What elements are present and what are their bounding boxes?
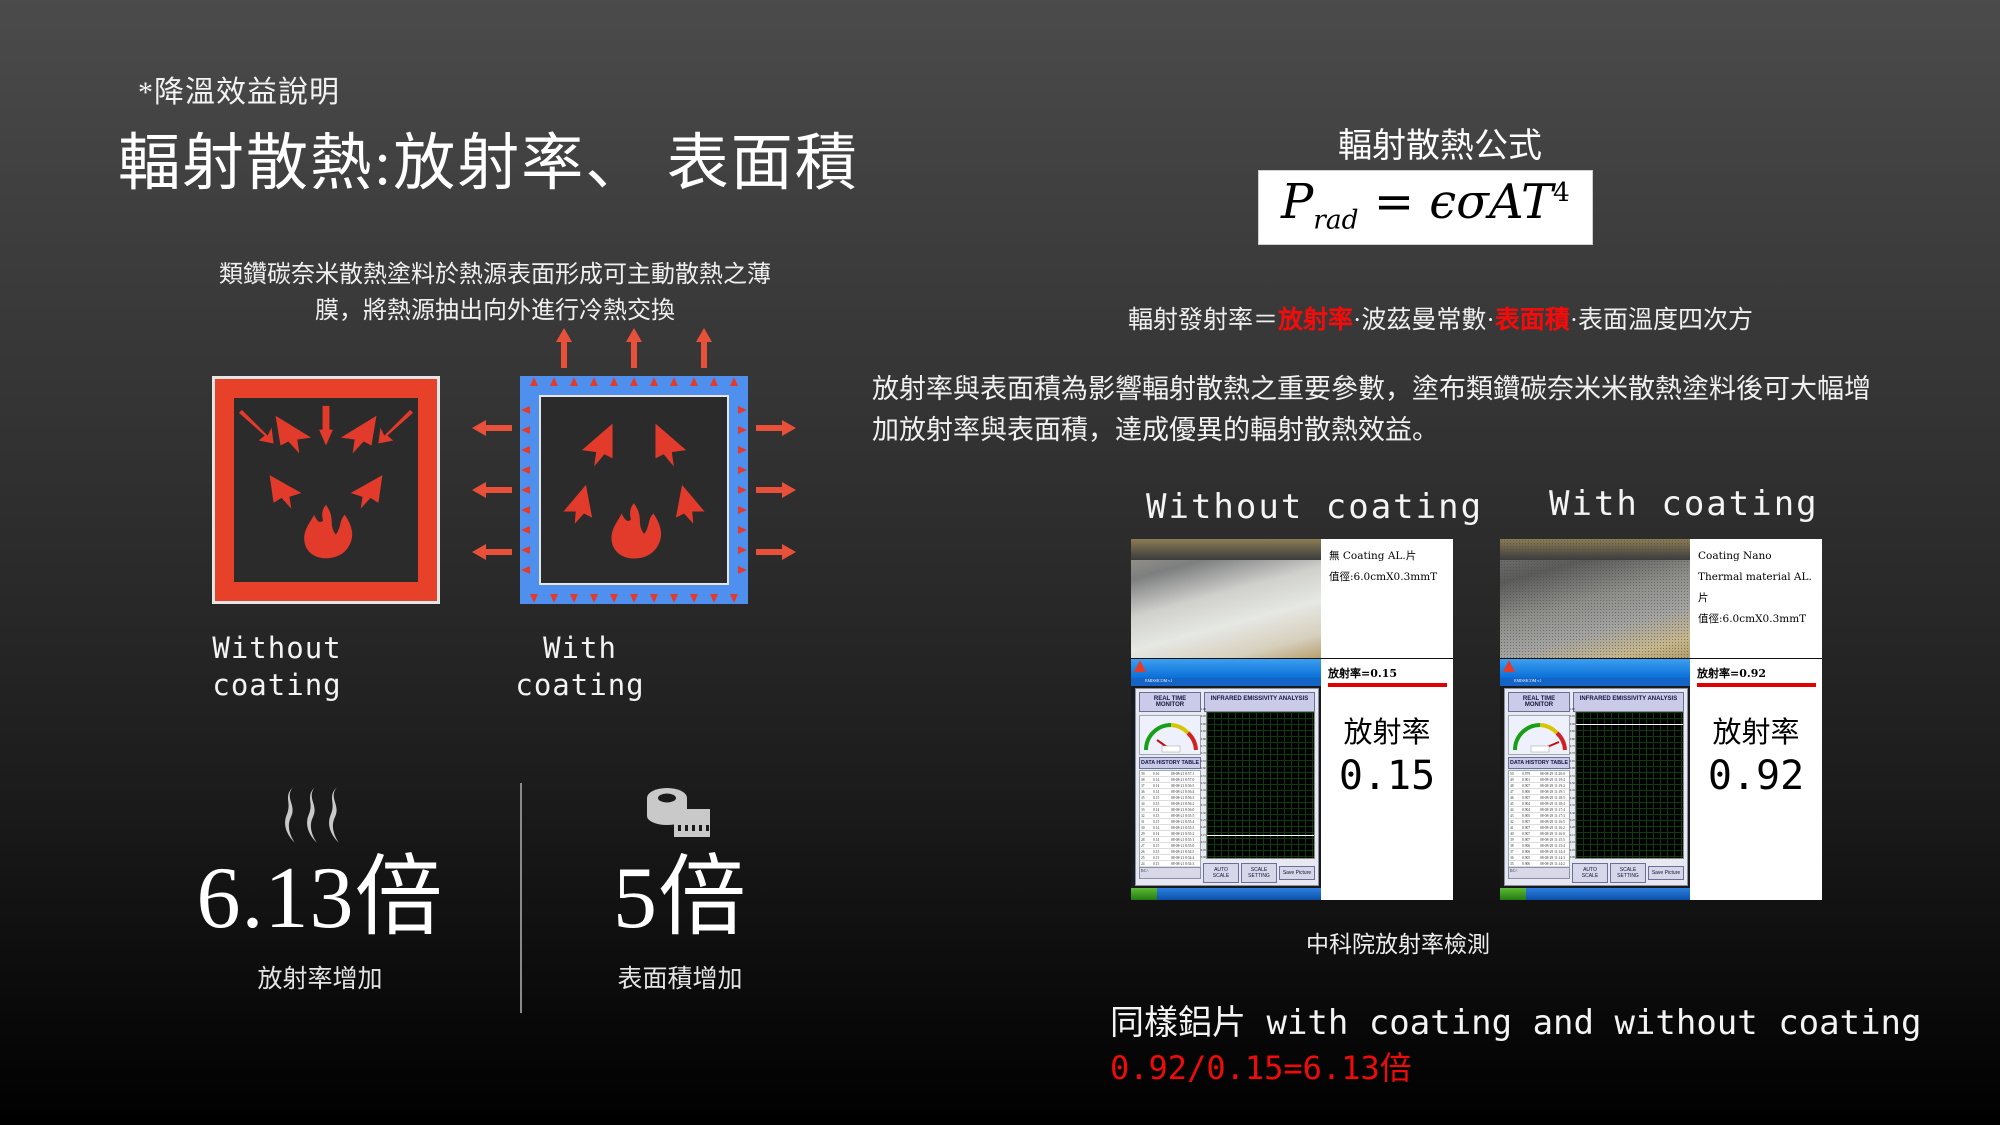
inward-arrows-group <box>234 398 418 582</box>
data-history-table-with[interactable]: 500.97908-08-29 11:20:0490.90108-08-29 1… <box>1508 770 1570 878</box>
readout-underline <box>1328 683 1447 687</box>
table-cell: 08-08-21 8:56:2 <box>1170 802 1200 806</box>
table-cell: 0.14 <box>1152 832 1170 836</box>
stat-emissivity: 6.13倍 放射率增加 <box>150 775 490 995</box>
table-cell: 08-08-21 8:55:3 <box>1170 826 1200 830</box>
readout-title: 放射率 <box>1321 709 1453 751</box>
table-cell: 46 <box>1509 796 1521 800</box>
table-cell: 38 <box>1140 778 1152 782</box>
auto-scale-button[interactable]: AUTO SCALE <box>1572 863 1608 883</box>
photo-background-bar <box>1500 539 1690 560</box>
table-cell: 0.901 <box>1521 778 1539 782</box>
table-cell: 47 <box>1509 790 1521 794</box>
readout-value: 0.92 <box>1690 753 1822 799</box>
table-cell: 0.907 <box>1521 820 1539 824</box>
stat-value: 5倍 <box>510 853 850 945</box>
app-bottom-bar: $\C:\ AUTO SCALE SCALE SETTING Save Pict… <box>1139 863 1315 883</box>
table-cell: 08-08-29 11:20:0 <box>1539 772 1569 776</box>
start-button[interactable] <box>1131 888 1157 900</box>
table-cell: 0.907 <box>1521 838 1539 842</box>
table-cell: 08-08-29 11:16:5 <box>1539 820 1569 824</box>
chart-y-axis: 0.000.050.100.150.200.250.300.350.400.45… <box>1198 711 1206 859</box>
table-cell: 43 <box>1509 814 1521 818</box>
table-cell: 08-08-21 8:55:0 <box>1170 844 1200 848</box>
app-bottom-bar: $\C:\ AUTO SCALE SCALE SETTING Save Pict… <box>1508 863 1684 883</box>
scale-setting-button[interactable]: SCALE SETTING <box>1610 863 1646 883</box>
table-cell: 0.907 <box>1521 796 1539 800</box>
app-logo-icon <box>1503 660 1515 672</box>
caption-with-line1: With <box>543 631 617 665</box>
stat-label: 放射率增加 <box>150 959 490 995</box>
desc-term-surface-area: 表面積 <box>1495 307 1570 334</box>
table-cell: 0.15 <box>1152 856 1170 860</box>
readout-without-coating: 放射率=0.15 放射率 0.15 <box>1321 659 1453 900</box>
formula-expression: Prad = ϵσAT4 <box>1281 177 1570 234</box>
table-cell: 08-08-29 11:14:3 <box>1539 856 1569 860</box>
diagram-caption-with: With coating <box>455 630 705 704</box>
evidence-label-without: Without coating <box>1146 487 1483 527</box>
table-cell: 0.979 <box>1521 772 1539 776</box>
evidence-top-with: Coating Nano Thermal material AL. 片 值徑:6… <box>1500 539 1822 659</box>
measuring-tape-icon <box>510 775 850 847</box>
panel-real-time-monitor: REAL TIME MONITOR <box>1139 692 1201 712</box>
emissivity-app-with: EMISSICOM v1 REAL TIME MONITOR INFRARED … <box>1500 659 1690 900</box>
auto-scale-button[interactable]: AUTO SCALE <box>1203 863 1239 883</box>
table-cell: 0.14 <box>1152 790 1170 794</box>
diagram-without-coating <box>212 376 440 604</box>
table-cell: 08-08-29 11:19:4 <box>1539 778 1569 782</box>
formula-equals: = <box>1374 174 1414 230</box>
stat-surface-area: 5倍 表面積增加 <box>510 775 850 995</box>
caption-with-line2: coating <box>515 668 644 702</box>
app-subtitle: EMISSICOM v1 <box>1131 678 1321 686</box>
table-cell: 36 <box>1509 856 1521 860</box>
table-cell: 0.907 <box>1521 826 1539 830</box>
conclusion-line-1: 同樣鋁片 with coating and without coating <box>1110 995 1922 1044</box>
app-titlebar <box>1131 659 1321 678</box>
formula-description: 輻射發射率＝放射率·波茲曼常數·表面積·表面溫度四次方 <box>1128 300 1753 336</box>
table-cell: 0.15 <box>1152 802 1170 806</box>
table-cell: 08-08-21 8:55:2 <box>1170 832 1200 836</box>
table-cell: 08-08-21 8:56:4 <box>1170 790 1200 794</box>
credit-text: 中科院放射率檢測 <box>1198 925 1598 959</box>
table-cell: 08-08-21 8:57:0 <box>1170 778 1200 782</box>
table-cell: 08-08-21 8:55:1 <box>1170 838 1200 842</box>
table-cell: 08-08-21 8:54:4 <box>1170 856 1200 860</box>
emissivity-gauge <box>1508 715 1570 755</box>
desc-term-temperature: 表面溫度四次方 <box>1578 307 1753 334</box>
evidence-panel-without-coating: 無 Coating AL.片 值徑:6.0cmX0.3mmT EMISSICOM… <box>1131 539 1453 900</box>
table-cell: 08-08-21 8:55:4 <box>1170 820 1200 824</box>
readout-equation: 放射率=0.92 <box>1690 659 1822 683</box>
data-history-table-without[interactable]: 390.1608-08-21 8:57:1380.1408-08-21 8:57… <box>1139 770 1201 878</box>
table-cell: 41 <box>1509 826 1521 830</box>
table-cell: 0.14 <box>1152 826 1170 830</box>
table-cell: 34 <box>1140 802 1152 806</box>
table-cell: 0.15 <box>1152 850 1170 854</box>
panel-data-history-table: DATA HISTORY TABLE <box>1139 757 1201 769</box>
save-picture-button[interactable]: Save Picture <box>1279 866 1315 880</box>
table-cell: 28 <box>1140 838 1152 842</box>
diagram-comparison <box>150 370 870 630</box>
table-cell: 50 <box>1509 772 1521 776</box>
meta-line-4: 值徑:6.0cmX0.3mmT <box>1698 609 1816 630</box>
lead-paragraph: 類鑽碳奈米散熱塗料於熱源表面形成可主動散熱之薄膜，將熱源抽出向外進行冷熱交換 <box>200 257 790 329</box>
diagram-caption-without: Without coating <box>152 630 402 704</box>
table-cell: 0.905 <box>1521 814 1539 818</box>
table-cell: 08-08-21 8:55:5 <box>1170 814 1200 818</box>
table-cell: 31 <box>1140 820 1152 824</box>
sample-meta-with: Coating Nano Thermal material AL. 片 值徑:6… <box>1690 539 1822 658</box>
table-cell: 08-08-29 11:19:2 <box>1539 784 1569 788</box>
table-cell: 08-08-29 11:16:2 <box>1539 826 1569 830</box>
stat-label: 表面積增加 <box>510 959 850 995</box>
app-taskbar <box>1131 888 1321 900</box>
page-title: 輻射散熱:放射率、 表面積 <box>118 112 859 202</box>
table-cell: 08-08-29 11:17:3 <box>1539 814 1569 818</box>
desc-sep2: · <box>1486 307 1494 334</box>
chart-y-axis: 0.000.050.100.150.200.250.300.350.400.45… <box>1567 711 1575 859</box>
table-cell: 08-08-21 8:56:3 <box>1170 796 1200 800</box>
table-cell: 0.15 <box>1152 796 1170 800</box>
heat-waves-icon <box>150 775 490 847</box>
caption-without-line2: coating <box>212 668 341 702</box>
formula-rhs: ϵσAT <box>1429 174 1553 230</box>
slide-note: *降溫效益說明 <box>138 67 340 111</box>
sample-photo-uncoated <box>1131 539 1321 658</box>
diagram-with-coating <box>520 376 748 604</box>
readout-equation: 放射率=0.15 <box>1321 659 1453 683</box>
table-cell: 08-08-21 8:54:5 <box>1170 850 1200 854</box>
desc-term-boltzmann: 波茲曼常數 <box>1361 307 1486 334</box>
table-cell: 08-08-29 11:18:5 <box>1539 796 1569 800</box>
formula-lhs: P <box>1281 174 1313 230</box>
emissivity-chart-without <box>1206 711 1315 859</box>
sample-photo-coated <box>1500 539 1690 658</box>
evidence-bottom-without: EMISSICOM v1 REAL TIME MONITOR INFRARED … <box>1131 659 1453 900</box>
photo-background-bar <box>1131 539 1321 560</box>
table-cell: 0.905 <box>1521 856 1539 860</box>
panel-data-history-table: DATA HISTORY TABLE <box>1508 757 1570 769</box>
app-body: REAL TIME MONITOR INFRARED EMISSIVITY AN… <box>1135 688 1319 886</box>
table-cell: 08-08-29 11:14:4 <box>1539 850 1569 854</box>
meta-line-2: 值徑:6.0cmX0.3mmT <box>1329 567 1447 588</box>
table-cell: 35 <box>1140 796 1152 800</box>
radiating-arrows-overlay <box>468 324 800 656</box>
readout-title: 放射率 <box>1690 709 1822 751</box>
caption-without-line1: Without <box>212 631 341 665</box>
formula-lhs-sub: rad <box>1313 205 1358 236</box>
data-path-field[interactable]: $\C:\ <box>1508 867 1570 879</box>
meta-line-1: 無 Coating AL.片 <box>1329 546 1447 567</box>
evidence-panel-with-coating: Coating Nano Thermal material AL. 片 值徑:6… <box>1500 539 1822 900</box>
table-cell: 08-08-29 11:16:0 <box>1539 832 1569 836</box>
app-taskbar <box>1500 888 1690 900</box>
conclusion-line-2: 0.92/0.15=6.13倍 <box>1110 1043 1412 1089</box>
table-cell: 0.15 <box>1152 844 1170 848</box>
table-cell: 0.907 <box>1521 784 1539 788</box>
sample-meta-without: 無 Coating AL.片 值徑:6.0cmX0.3mmT <box>1321 539 1453 658</box>
table-cell: 0.15 <box>1152 814 1170 818</box>
evidence-top-without: 無 Coating AL.片 值徑:6.0cmX0.3mmT <box>1131 539 1453 659</box>
table-cell: 37 <box>1140 784 1152 788</box>
table-cell: 08-08-29 11:18:4 <box>1539 802 1569 806</box>
stats-row: 6.13倍 放射率增加 <box>120 775 900 1025</box>
panel-infrared-analysis: INFRARED EMISSIVITY ANALYSIS <box>1204 692 1315 712</box>
formula-title: 輻射散熱公式 <box>1240 118 1640 167</box>
table-cell: 0.900 <box>1521 790 1539 794</box>
meta-line-1: Coating Nano <box>1698 546 1816 567</box>
desc-prefix: 輻射發射率＝ <box>1128 307 1278 334</box>
table-cell: 48 <box>1509 784 1521 788</box>
table-cell: 37 <box>1509 850 1521 854</box>
slide-root: *降溫效益說明 輻射散熱:放射率、 表面積 類鑽碳奈米散熱塗料於熱源表面形成可主… <box>0 0 2000 1125</box>
right-paragraph: 放射率與表面積為影響輻射散熱之重要參數，塗布類鑽碳奈米米散熱塗料後可大幅增加放射… <box>872 369 1882 451</box>
desc-term-emissivity: 放射率 <box>1278 307 1353 334</box>
meta-line-3: 片 <box>1698 588 1816 609</box>
evidence-bottom-with: EMISSICOM v1 REAL TIME MONITOR INFRARED … <box>1500 659 1822 900</box>
table-cell: 0.14 <box>1152 778 1170 782</box>
table-cell: 08-08-21 8:56:0 <box>1170 808 1200 812</box>
diagram-without-inner <box>234 398 418 582</box>
evidence-label-with: With coating <box>1549 484 1819 524</box>
table-cell: 0.906 <box>1521 844 1539 848</box>
table-cell: 49 <box>1509 778 1521 782</box>
table-cell: 42 <box>1509 820 1521 824</box>
chart-series-line <box>1207 835 1314 837</box>
app-body: REAL TIME MONITOR INFRARED EMISSIVITY AN… <box>1504 688 1688 886</box>
table-cell: 0.14 <box>1152 808 1170 812</box>
scale-setting-button[interactable]: SCALE SETTING <box>1241 863 1277 883</box>
table-cell: 44 <box>1509 808 1521 812</box>
table-cell: 08-08-29 11:15:4 <box>1539 844 1569 848</box>
table-cell: 36 <box>1140 790 1152 794</box>
table-cell: 08-08-29 11:15:5 <box>1539 838 1569 842</box>
chart-gridlines <box>1576 712 1683 858</box>
panel-real-time-monitor: REAL TIME MONITOR <box>1508 692 1570 712</box>
readout-value: 0.15 <box>1321 753 1453 799</box>
table-cell: 0.14 <box>1152 838 1170 842</box>
panel-infrared-analysis: INFRARED EMISSIVITY ANALYSIS <box>1573 692 1684 712</box>
readout-with-coating: 放射率=0.92 放射率 0.92 <box>1690 659 1822 900</box>
table-cell: 0.904 <box>1521 808 1539 812</box>
table-cell: 40 <box>1509 832 1521 836</box>
table-cell: 08-08-21 8:57:1 <box>1170 772 1200 776</box>
table-cell: 26 <box>1140 850 1152 854</box>
app-titlebar <box>1500 659 1690 678</box>
table-cell: 0.904 <box>1521 802 1539 806</box>
data-path-field[interactable]: $\C:\ <box>1139 867 1201 879</box>
desc-sep3: · <box>1570 307 1578 334</box>
table-cell: 39 <box>1140 772 1152 776</box>
stat-value: 6.13倍 <box>150 853 490 945</box>
formula-box: Prad = ϵσAT4 <box>1258 170 1593 245</box>
table-cell: 0.16 <box>1152 772 1170 776</box>
table-cell: 0.906 <box>1521 850 1539 854</box>
app-logo-icon <box>1134 660 1146 672</box>
table-cell: 0.15 <box>1152 820 1170 824</box>
table-cell: 45 <box>1509 802 1521 806</box>
readout-underline <box>1697 683 1816 687</box>
emissivity-gauge <box>1139 715 1201 755</box>
emissivity-chart-with <box>1575 711 1684 859</box>
table-cell: 0.14 <box>1152 784 1170 788</box>
table-cell: 38 <box>1509 844 1521 848</box>
table-cell: 08-08-29 11:17:4 <box>1539 808 1569 812</box>
table-cell: 08-08-29 11:19:1 <box>1539 790 1569 794</box>
table-cell: 25 <box>1140 856 1152 860</box>
meta-line-2: Thermal material AL. <box>1698 567 1816 588</box>
table-cell: 33 <box>1140 808 1152 812</box>
save-picture-button[interactable]: Save Picture <box>1648 866 1684 880</box>
table-cell: 27 <box>1140 844 1152 848</box>
table-cell: 30 <box>1140 826 1152 830</box>
chart-series-line <box>1576 724 1683 726</box>
formula-rhs-sup: 4 <box>1553 177 1570 208</box>
table-cell: 29 <box>1140 832 1152 836</box>
start-button[interactable] <box>1500 888 1526 900</box>
table-cell: 08-08-21 8:56:5 <box>1170 784 1200 788</box>
table-cell: 32 <box>1140 814 1152 818</box>
table-cell: 0.907 <box>1521 832 1539 836</box>
app-subtitle: EMISSICOM v1 <box>1500 678 1690 686</box>
table-cell: 39 <box>1509 838 1521 842</box>
emissivity-app-without: EMISSICOM v1 REAL TIME MONITOR INFRARED … <box>1131 659 1321 900</box>
